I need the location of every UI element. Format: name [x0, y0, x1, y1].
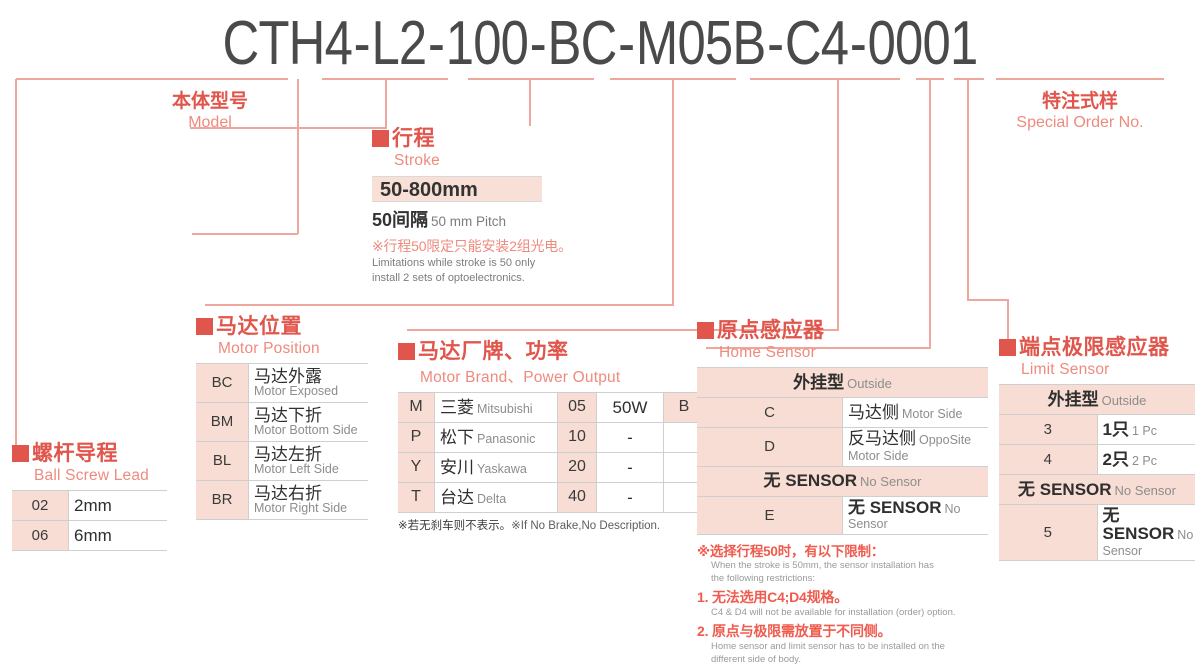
special-order-title-cn: 特注式样	[960, 86, 1200, 113]
row-brand: 三菱Mitsubishi	[435, 393, 558, 423]
row-value: 反马达侧OppoSite Motor Side	[843, 428, 989, 467]
block-ball-screw-lead: 螺杆导程 Ball Screw Lead 02 2mm 06 6mm	[12, 443, 167, 551]
stroke-pitch-cn: 50间隔	[372, 210, 428, 230]
row-value: 无 SENSORNo Sensor	[1097, 505, 1195, 561]
table-row[interactable]: BC 马达外露 Motor Exposed	[196, 364, 368, 403]
row-value-en: Motor Side	[902, 407, 962, 421]
block-model: 本体型号 Model	[105, 86, 315, 132]
square-bullet-icon	[999, 339, 1016, 356]
table-row[interactable]: E 无 SENSORNo Sensor	[697, 496, 988, 535]
special-order-title-en: Special Order No.	[960, 114, 1200, 132]
motor-brand-table: M 三菱Mitsubishi 05 50W B P 松下Panasonic 10…	[398, 392, 705, 513]
square-bullet-icon	[12, 445, 29, 462]
code-segment-model: CTH4	[223, 8, 352, 79]
table-row[interactable]: M 三菱Mitsubishi 05 50W B	[398, 393, 705, 423]
block-home-sensor: 原点感应器 Home Sensor 外挂型Outside C 马达侧Motor …	[697, 320, 997, 666]
limit-sensor-title-cn: 端点极限感应器	[1019, 336, 1170, 359]
limit-sensor-table: 外挂型Outside 3 1只1 Pc 4 2只2 Pc 无 SENSORNo …	[999, 384, 1195, 561]
stroke-range-box: 50-800mm	[372, 176, 542, 202]
table-group-header: 无 SENSORNo Sensor	[697, 466, 988, 496]
row-value-en: Motor Bottom Side	[254, 424, 363, 437]
code-segment-motor-brand: M05B	[636, 8, 766, 79]
square-bullet-icon	[196, 318, 213, 335]
table-row[interactable]: 02 2mm	[12, 491, 167, 521]
group-header-en: Outside	[1102, 393, 1147, 408]
row-brand-cn: 松下	[440, 428, 474, 447]
model-title-en: Model	[105, 114, 315, 132]
home-sensor-heading: 原点感应器	[697, 320, 997, 342]
stroke-note-en-1: Limitations while stroke is 50 only	[372, 257, 572, 271]
warning-heading-en-2: the following restrictions:	[711, 573, 997, 585]
row-value: 马达下折 Motor Bottom Side	[249, 403, 369, 442]
group-header-outside: 外挂型Outside	[697, 368, 988, 398]
square-bullet-icon	[398, 343, 415, 360]
row-brand-en: Mitsubishi	[477, 402, 533, 416]
row-value-en: 1 Pc	[1132, 424, 1157, 438]
row-brand-en: Yaskawa	[477, 462, 527, 476]
row-code: BM	[196, 403, 249, 442]
row-power-text: -	[627, 488, 633, 507]
warning-2-en-2: different side of body.	[711, 654, 997, 666]
stroke-pitch-en: 50 mm Pitch	[431, 214, 506, 229]
ball-screw-lead-heading: 螺杆导程	[12, 443, 167, 465]
table-group-header: 无 SENSORNo Sensor	[999, 475, 1195, 505]
row-power-code: 20	[558, 453, 597, 483]
row-brand: 安川Yaskawa	[435, 453, 558, 483]
table-row[interactable]: BL 马达左折 Motor Left Side	[196, 442, 368, 481]
row-code: 4	[999, 445, 1097, 475]
home-sensor-title-cn: 原点感应器	[717, 319, 825, 342]
table-row[interactable]: 3 1只1 Pc	[999, 415, 1195, 445]
table-row[interactable]: Y 安川Yaskawa 20 -	[398, 453, 705, 483]
motor-brand-note-cn: ※若无刹车则不表示。	[398, 520, 511, 532]
table-row[interactable]: C 马达侧Motor Side	[697, 398, 988, 428]
stroke-pitch: 50间隔50 mm Pitch	[372, 206, 572, 232]
row-brand: 松下Panasonic	[435, 423, 558, 453]
stroke-title-cn: 行程	[392, 127, 435, 150]
row-brand-en: Panasonic	[477, 432, 535, 446]
stroke-heading: 行程	[372, 128, 572, 150]
ball-screw-lead-table: 02 2mm 06 6mm	[12, 490, 167, 551]
row-value-text: 6mm	[74, 526, 112, 545]
table-row[interactable]: 06 6mm	[12, 521, 167, 551]
row-value: 1只1 Pc	[1097, 415, 1195, 445]
code-segment-lead: L2	[371, 8, 426, 79]
row-code: 3	[999, 415, 1097, 445]
row-brand: 台达Delta	[435, 483, 558, 513]
home-sensor-table: 外挂型Outside C 马达侧Motor Side D 反马达侧OppoSit…	[697, 367, 988, 535]
row-code: D	[697, 428, 843, 467]
block-motor-position: 马达位置 Motor Position BC 马达外露 Motor Expose…	[196, 316, 368, 520]
block-stroke: 行程 Stroke 50-800mm 50间隔50 mm Pitch ※行程50…	[372, 128, 572, 286]
row-code: BC	[196, 364, 249, 403]
home-sensor-title-en: Home Sensor	[719, 344, 997, 362]
code-segment-home-sensor: C4	[785, 8, 848, 79]
table-row[interactable]: P 松下Panasonic 10 -	[398, 423, 705, 453]
row-value: 2mm	[69, 491, 168, 521]
row-value: 马达侧Motor Side	[843, 398, 989, 428]
table-row[interactable]: BR 马达右折 Motor Right Side	[196, 481, 368, 520]
motor-position-title-en: Motor Position	[218, 340, 368, 358]
row-power: -	[597, 453, 664, 483]
code-segment-motor-position: BC	[548, 8, 617, 79]
row-brand-code: P	[398, 423, 435, 453]
code-dash: -	[765, 8, 784, 79]
row-value-cn: 反马达侧	[848, 429, 916, 448]
table-row[interactable]: T 台达Delta 40 -	[398, 483, 705, 513]
ball-screw-lead-title-cn: 螺杆导程	[32, 442, 118, 465]
group-header-cn: 外挂型	[1048, 390, 1099, 409]
row-code: 5	[999, 505, 1097, 561]
motor-position-table: BC 马达外露 Motor Exposed BM 马达下折 Motor Bott…	[196, 363, 368, 520]
group-header-cn: 外挂型	[793, 373, 844, 392]
group-header-no-sensor: 无 SENSORNo Sensor	[697, 466, 988, 496]
code-segment-stroke: 100	[446, 8, 528, 79]
row-power: -	[597, 423, 664, 453]
table-row[interactable]: 5 无 SENSORNo Sensor	[999, 505, 1195, 561]
row-brand-code: Y	[398, 453, 435, 483]
row-value-cn: 马达侧	[848, 403, 899, 422]
row-brand-en: Delta	[477, 492, 506, 506]
motor-brand-note-en: ※If No Brake,No Description.	[511, 520, 660, 532]
motor-position-title-cn: 马达位置	[216, 315, 302, 338]
row-value-en: Motor Right Side	[254, 502, 363, 515]
row-power-code: 40	[558, 483, 597, 513]
row-power-text: 50W	[613, 398, 648, 417]
row-value: 马达左折 Motor Left Side	[249, 442, 369, 481]
table-row[interactable]: BM 马达下折 Motor Bottom Side	[196, 403, 368, 442]
warning-2-cn: 2. 原点与极限需放置于不同侧。	[697, 621, 997, 641]
stroke-note-en-2: install 2 sets of optoelectronics.	[372, 272, 572, 286]
block-special-order: 特注式样 Special Order No.	[960, 86, 1200, 132]
row-value: 马达右折 Motor Right Side	[249, 481, 369, 520]
row-code: BL	[196, 442, 249, 481]
group-header-en: Outside	[847, 376, 892, 391]
row-power-code: 10	[558, 423, 597, 453]
table-group-header: 外挂型Outside	[697, 368, 988, 398]
row-brand-code: T	[398, 483, 435, 513]
row-brand-cn: 三菱	[440, 398, 474, 417]
model-code-diagram: CTH4-L2-100-BC-M05B-C4-0001	[0, 0, 1200, 601]
square-bullet-icon	[697, 322, 714, 339]
row-value-cn: 1只	[1103, 420, 1129, 439]
home-sensor-warnings: ※选择行程50时，有以下限制： When the stroke is 50mm,…	[697, 540, 997, 666]
group-header-no-sensor: 无 SENSORNo Sensor	[999, 475, 1195, 505]
group-header-en: No Sensor	[860, 474, 921, 489]
row-value-text: 2mm	[74, 496, 112, 515]
code-dash: -	[426, 8, 445, 79]
group-header-cn: 无 SENSOR	[1018, 480, 1112, 499]
table-group-header: 外挂型Outside	[999, 385, 1195, 415]
row-code: 06	[12, 521, 69, 551]
row-brand-cn: 安川	[440, 458, 474, 477]
code-dash: -	[352, 8, 371, 79]
warning-heading-cn: ※选择行程50时，有以下限制：	[697, 540, 997, 560]
motor-brand-title-cn: 马达厂牌、功率	[418, 340, 569, 363]
warning-1-en: C4 & D4 will not be available for instal…	[711, 607, 997, 619]
group-header-cn: 无 SENSOR	[764, 471, 858, 490]
row-value-en: Motor Left Side	[254, 463, 363, 476]
row-value-cn: 2只	[1103, 450, 1129, 469]
code-dash: -	[848, 8, 867, 79]
stroke-note-cn: ※行程50限定只能安装2组光电。	[372, 236, 572, 256]
row-code: E	[697, 496, 843, 535]
motor-brand-heading: 马达厂牌、功率	[398, 341, 705, 363]
row-power-text: -	[627, 428, 633, 447]
row-power: 50W	[597, 393, 664, 423]
block-motor-brand: 马达厂牌、功率 Motor Brand、Power Output M 三菱Mit…	[398, 341, 705, 533]
table-row[interactable]: 4 2只2 Pc	[999, 445, 1195, 475]
motor-brand-note: ※若无刹车则不表示。※If No Brake,No Description.	[398, 517, 705, 533]
limit-sensor-heading: 端点极限感应器	[999, 337, 1195, 359]
row-code: C	[697, 398, 843, 428]
table-row[interactable]: D 反马达侧OppoSite Motor Side	[697, 428, 988, 467]
row-power-text: -	[627, 458, 633, 477]
motor-position-heading: 马达位置	[196, 316, 368, 338]
warning-heading-en-1: When the stroke is 50mm, the sensor inst…	[711, 560, 997, 572]
row-code: 02	[12, 491, 69, 521]
group-header-en: No Sensor	[1115, 483, 1176, 498]
group-header-outside: 外挂型Outside	[999, 385, 1195, 415]
row-brand-cn: 台达	[440, 488, 474, 507]
row-power-code: 05	[558, 393, 597, 423]
code-dash: -	[617, 8, 636, 79]
row-value: 马达外露 Motor Exposed	[249, 364, 369, 403]
row-value-cn: 无 SENSOR	[848, 498, 942, 517]
warning-2-en-1: Home sensor and limit sensor has to be i…	[711, 641, 997, 653]
row-value: 无 SENSORNo Sensor	[843, 496, 989, 535]
row-value-cn: 无 SENSOR	[1103, 506, 1175, 543]
row-power: -	[597, 483, 664, 513]
row-value-en: Motor Exposed	[254, 385, 363, 398]
motor-brand-title-en: Motor Brand、Power Output	[420, 365, 705, 387]
limit-sensor-title-en: Limit Sensor	[1021, 361, 1195, 379]
row-brand-code: M	[398, 393, 435, 423]
row-value-en: 2 Pc	[1132, 454, 1157, 468]
square-bullet-icon	[372, 130, 389, 147]
block-limit-sensor: 端点极限感应器 Limit Sensor 外挂型Outside 3 1只1 Pc…	[999, 337, 1195, 561]
stroke-title-en: Stroke	[394, 152, 572, 170]
row-value: 6mm	[69, 521, 168, 551]
code-segment-special-order: 0001	[868, 8, 978, 79]
ball-screw-lead-title-en: Ball Screw Lead	[34, 467, 167, 485]
code-dash: -	[528, 8, 547, 79]
row-code: BR	[196, 481, 249, 520]
product-code-title: CTH4-L2-100-BC-M05B-C4-0001	[108, 8, 1092, 79]
row-value: 2只2 Pc	[1097, 445, 1195, 475]
warning-1-cn: 1. 无法选用C4;D4规格。	[697, 587, 997, 607]
model-title-cn: 本体型号	[105, 86, 315, 113]
